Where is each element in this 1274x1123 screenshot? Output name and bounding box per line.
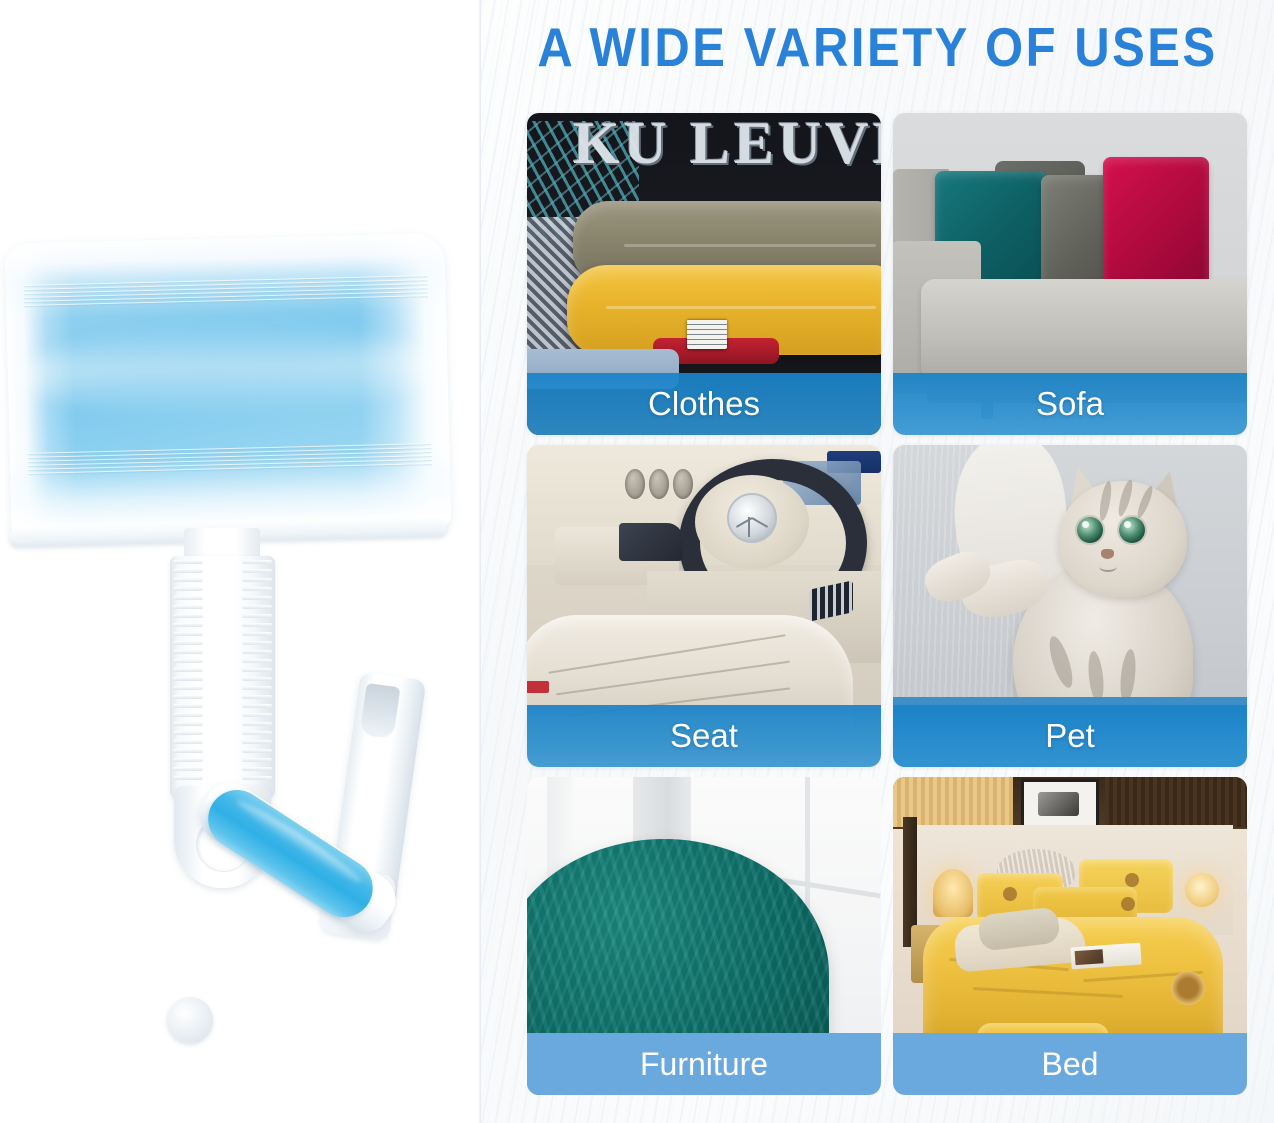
air-vent-icon [625, 469, 645, 499]
console-dark-insert [619, 523, 683, 561]
uses-row-1: KU LEUVEN Clothes [527, 113, 1247, 435]
kitten-eye-left [1077, 517, 1103, 543]
uses-row-2: Seat [527, 445, 1247, 767]
framed-picture [1021, 779, 1099, 831]
transparent-cover-shell [4, 233, 451, 539]
cover-ridges-top [23, 274, 428, 310]
pillow-magenta [1103, 157, 1209, 289]
dark-slat-panel [1105, 777, 1247, 827]
seat-red-accent [527, 681, 549, 693]
kitten-eye-right [1119, 517, 1145, 543]
cover-ridges-bottom [27, 442, 432, 478]
tile-label-sofa: Sofa [893, 373, 1247, 435]
tile-label-clothes: Clothes [527, 373, 881, 435]
pillow-embroidery [1003, 887, 1017, 901]
tile-label-seat: Seat [527, 705, 881, 767]
uses-grid: KU LEUVEN Clothes [527, 113, 1247, 1105]
cover-sheen [15, 321, 439, 420]
air-vent-icon [673, 469, 693, 499]
product-feature-image: A WIDE VARIETY OF USES KU LEUVEN C [0, 0, 1274, 1123]
use-tile-seat[interactable]: Seat [527, 445, 881, 767]
shirt-text: KU LEUVEN [573, 113, 881, 201]
uses-panel: A WIDE VARIETY OF USES KU LEUVEN C [481, 0, 1274, 1123]
use-tile-bed[interactable]: Bed [893, 777, 1247, 1095]
steering-wheel-spoke [748, 517, 750, 537]
mercedes-logo-icon [727, 493, 777, 543]
pillow-embroidery [1121, 897, 1135, 911]
product-photo-panel [0, 0, 481, 1123]
care-label-tag [687, 319, 727, 349]
tile-label-pet: Pet [893, 705, 1247, 767]
use-tile-pet[interactable]: Pet [893, 445, 1247, 767]
mini-folding-roller [165, 675, 445, 1065]
tile-label-bed: Bed [893, 1033, 1247, 1095]
kitten-mouth [1099, 561, 1117, 572]
roller-cover [8, 238, 448, 533]
mini-roller-end-cap [167, 997, 213, 1043]
tile-label-furniture: Furniture [527, 1033, 881, 1095]
use-tile-sofa[interactable]: Sofa [893, 113, 1247, 435]
table-lamp-left [933, 869, 973, 917]
use-tile-furniture[interactable]: Furniture [527, 777, 881, 1095]
uses-row-3: Furniture [527, 777, 1247, 1095]
pillow-embroidery [1125, 873, 1139, 887]
table-lamp-right [1185, 873, 1219, 907]
air-vent-icon [649, 469, 669, 499]
duvet-embroidery [1171, 971, 1205, 1005]
use-tile-clothes[interactable]: KU LEUVEN Clothes [527, 113, 881, 435]
kitten-nose [1101, 549, 1114, 559]
page-title: A WIDE VARIETY OF USES [481, 17, 1274, 80]
